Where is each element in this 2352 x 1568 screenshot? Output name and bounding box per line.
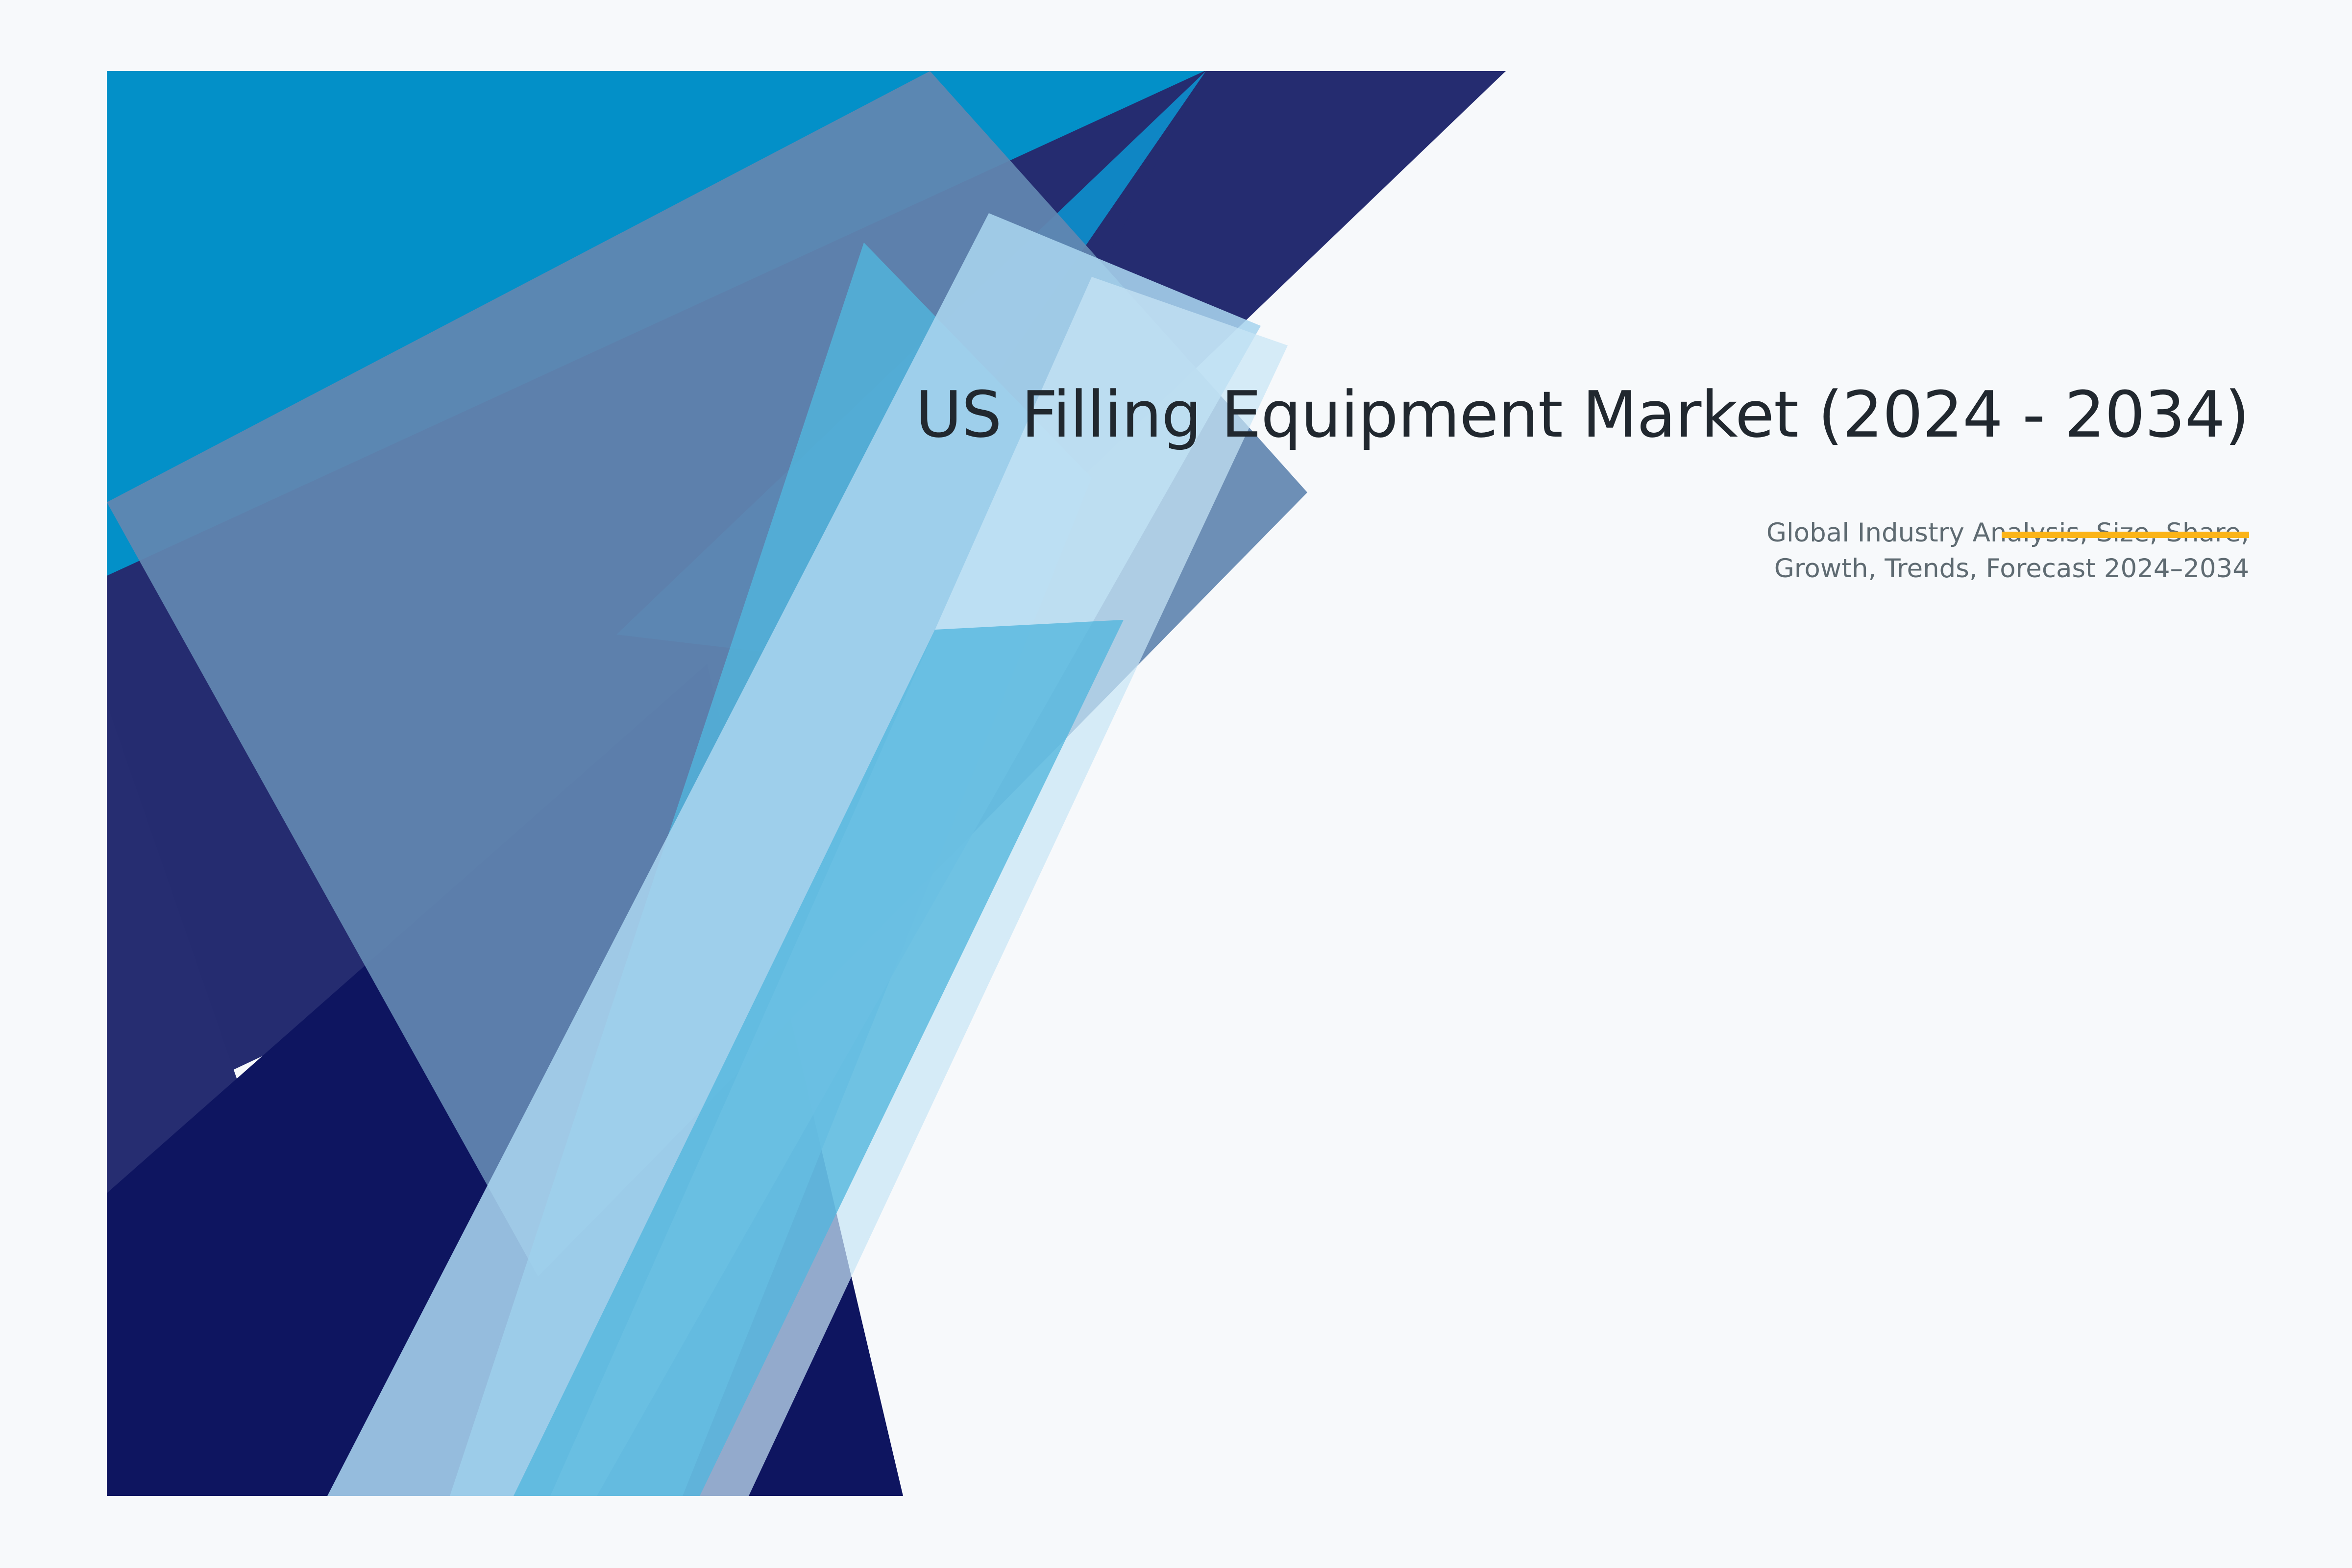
title-wrapper: US Filling Equipment Market (2024 - 2034…	[735, 372, 2249, 457]
page-title: US Filling Equipment Market (2024 - 2034…	[735, 372, 2249, 457]
title-underline-bar	[2002, 532, 2249, 538]
page-subtitle: Global Industry Analysis, Size, Share, G…	[735, 457, 2249, 587]
abstract-geometric-artwork	[107, 71, 1506, 1496]
title-text-block: US Filling Equipment Market (2024 - 2034…	[735, 372, 2249, 587]
title-slide: US Filling Equipment Market (2024 - 2034…	[0, 0, 2352, 1568]
